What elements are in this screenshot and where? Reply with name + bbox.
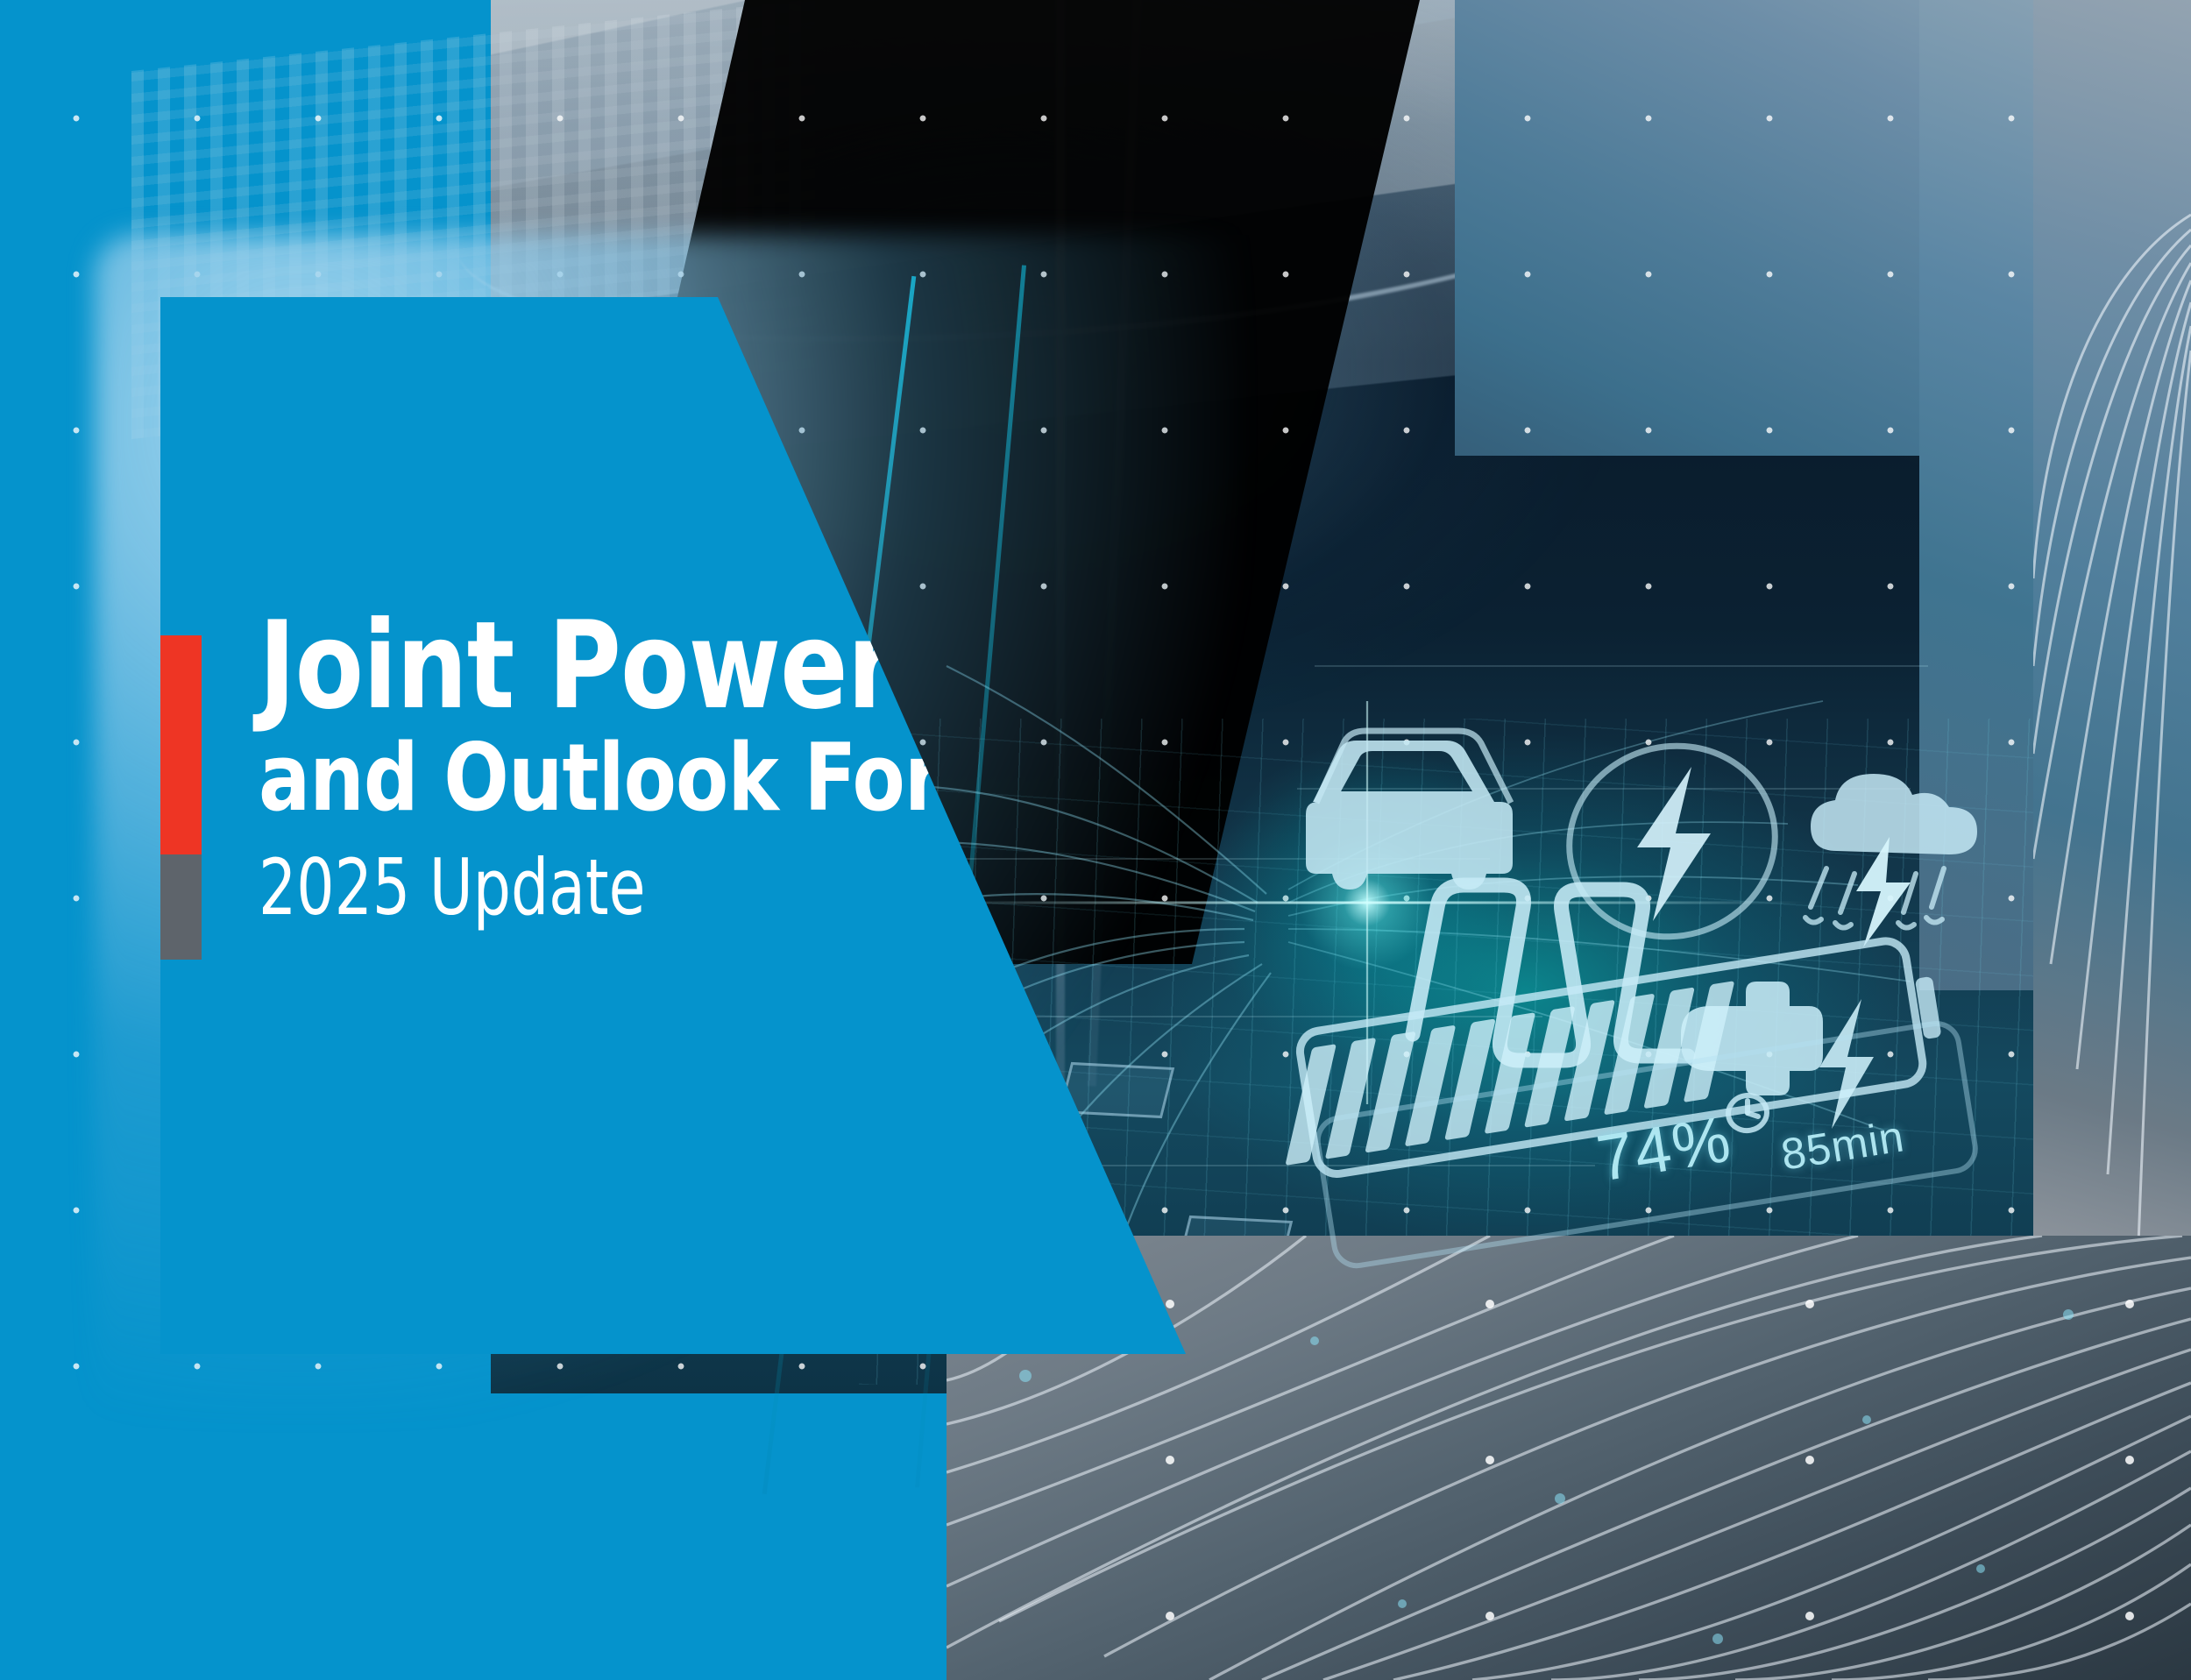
accent-bar-gray (160, 854, 202, 960)
cover-stage: 74% 85min Joint Powertrain Trends and Ou… (0, 0, 2191, 1680)
photo-arc-fan-right (2033, 0, 2191, 1244)
accent-bar-red (160, 635, 202, 854)
